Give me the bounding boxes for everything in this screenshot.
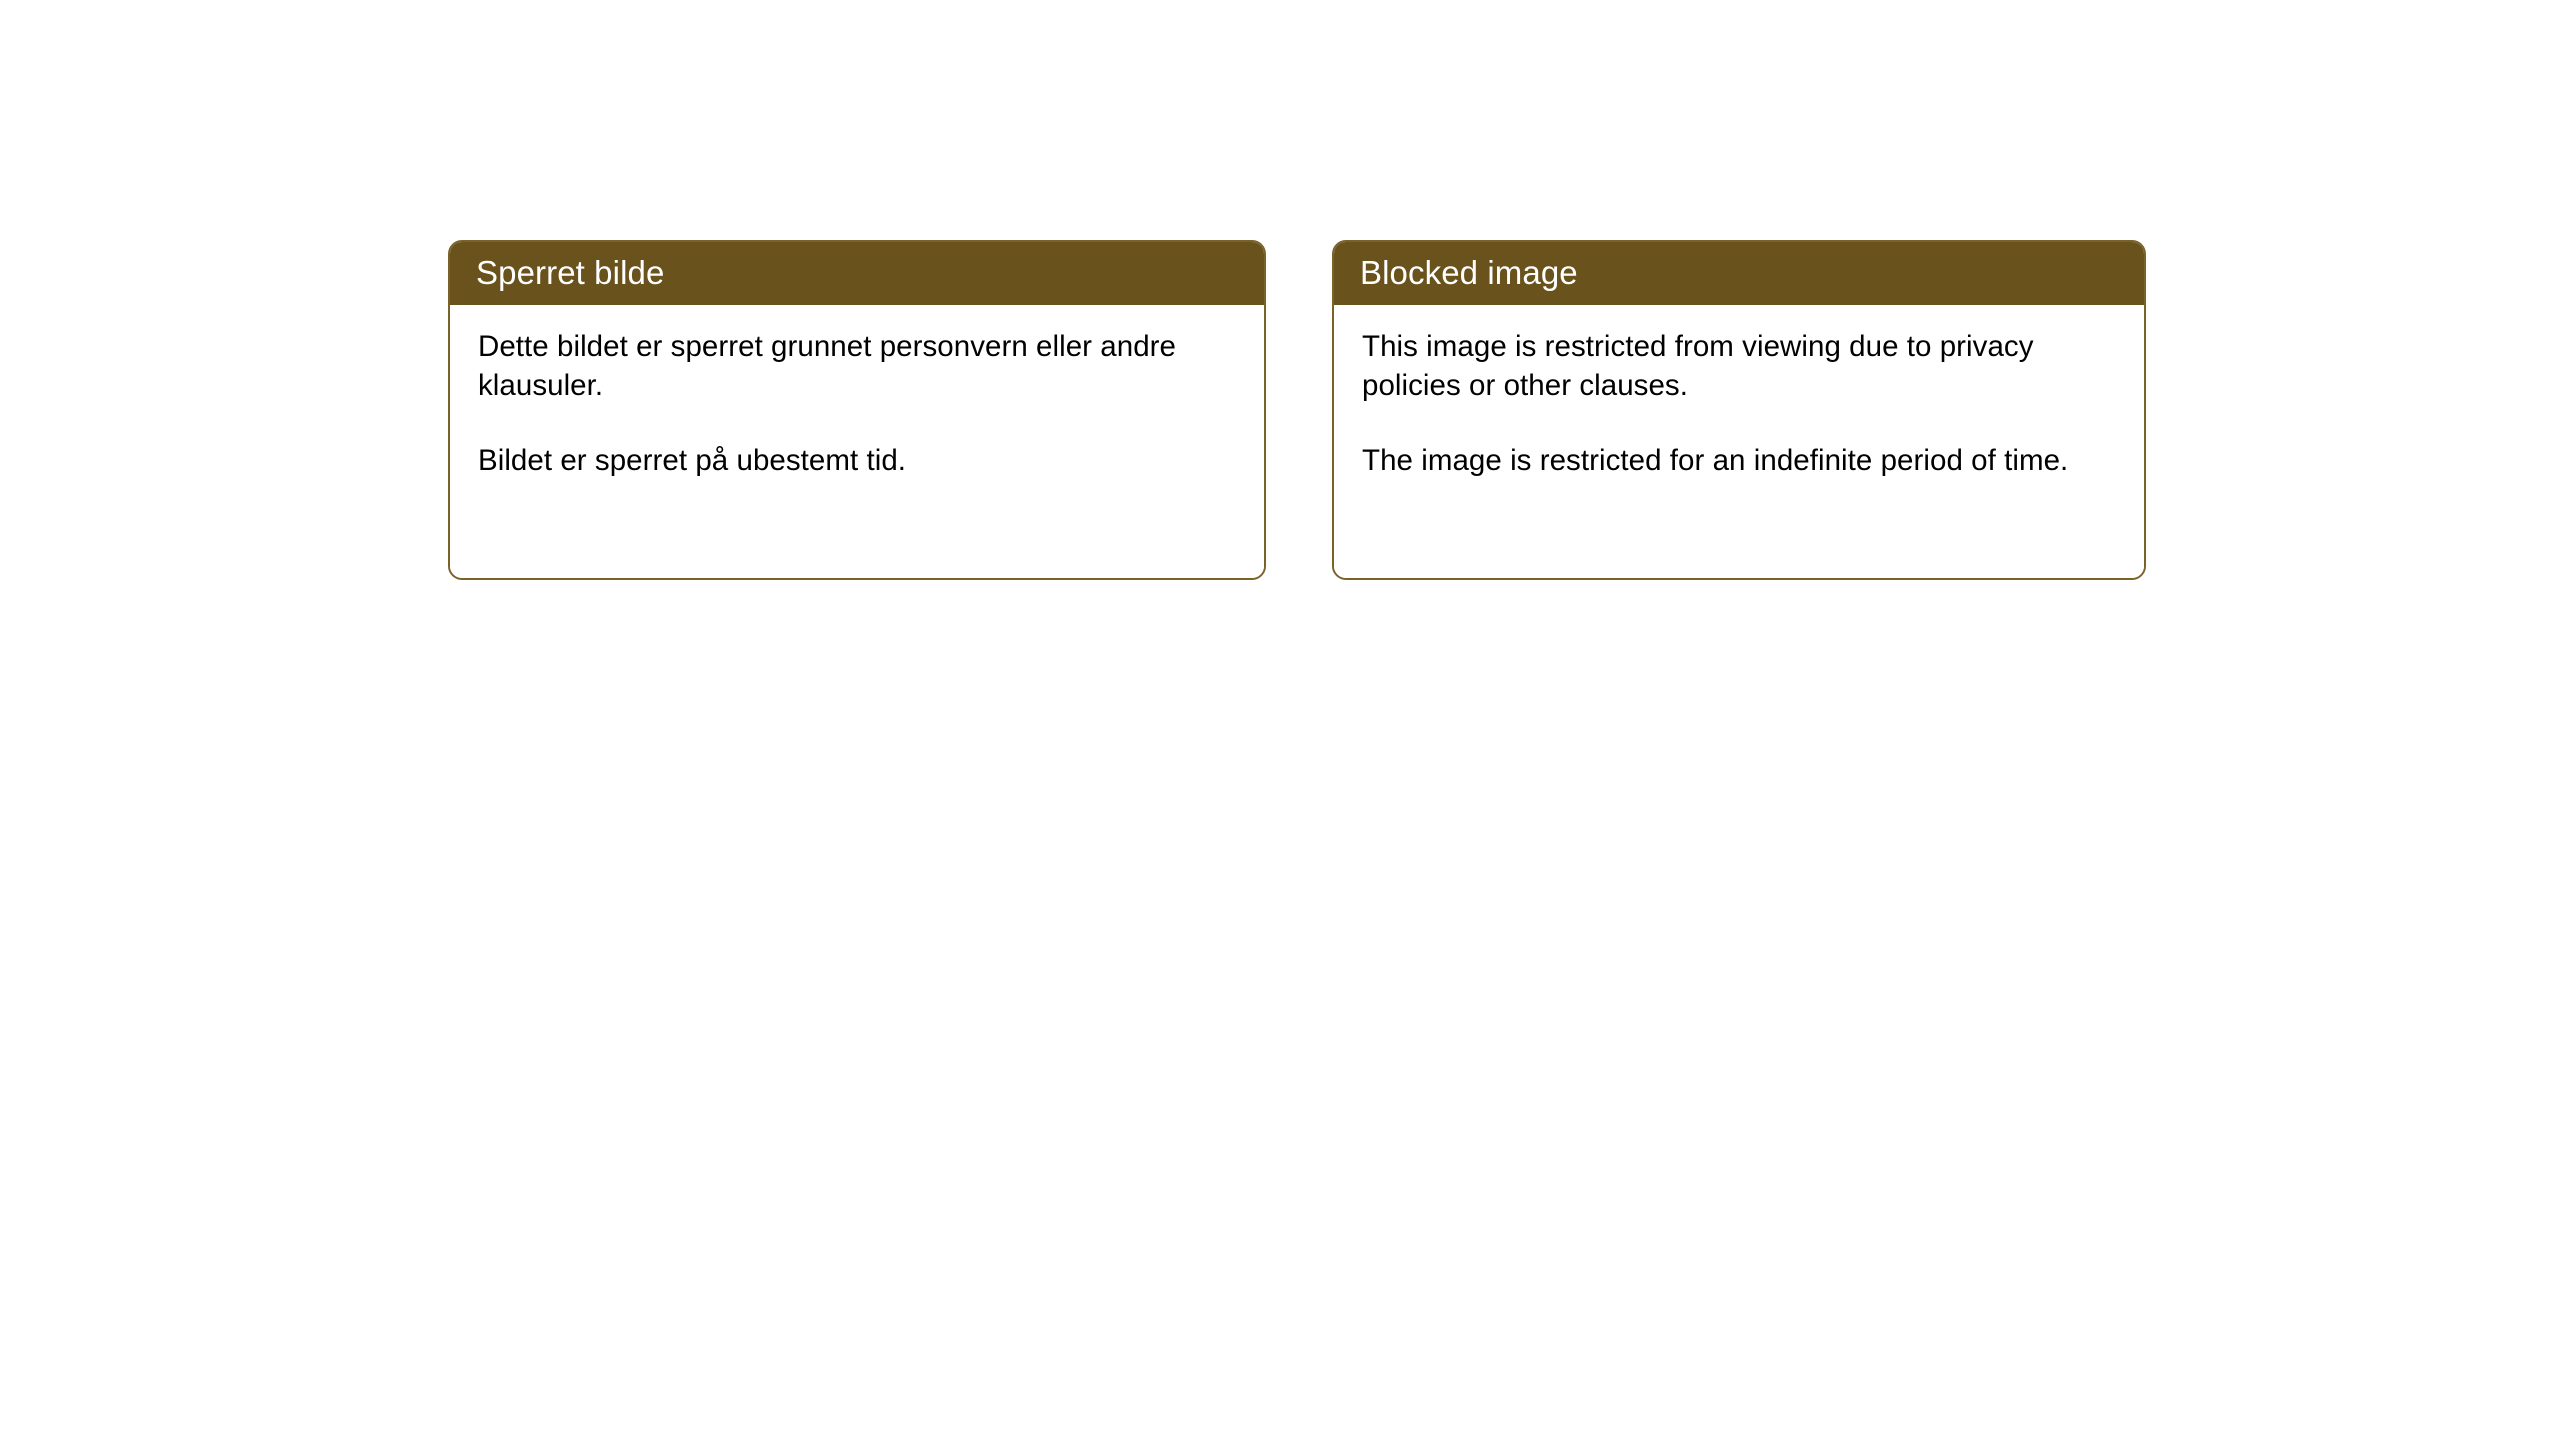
notice-title-no: Sperret bilde	[450, 242, 1264, 305]
notice-body-no: Dette bildet er sperret grunnet personve…	[450, 305, 1264, 578]
notice-body-en: This image is restricted from viewing du…	[1334, 305, 2144, 578]
page-canvas: Sperret bilde Dette bildet er sperret gr…	[0, 0, 2560, 1440]
blocked-image-notice-group: Sperret bilde Dette bildet er sperret gr…	[448, 240, 2146, 580]
notice-paragraph-reason-en: This image is restricted from viewing du…	[1362, 327, 2118, 405]
notice-title-en: Blocked image	[1334, 242, 2144, 305]
notice-paragraph-reason-no: Dette bildet er sperret grunnet personve…	[478, 327, 1238, 405]
notice-paragraph-duration-no: Bildet er sperret på ubestemt tid.	[478, 441, 1238, 480]
blocked-image-notice-card-en: Blocked image This image is restricted f…	[1332, 240, 2146, 580]
notice-paragraph-duration-en: The image is restricted for an indefinit…	[1362, 441, 2118, 480]
blocked-image-notice-card-no: Sperret bilde Dette bildet er sperret gr…	[448, 240, 1266, 580]
